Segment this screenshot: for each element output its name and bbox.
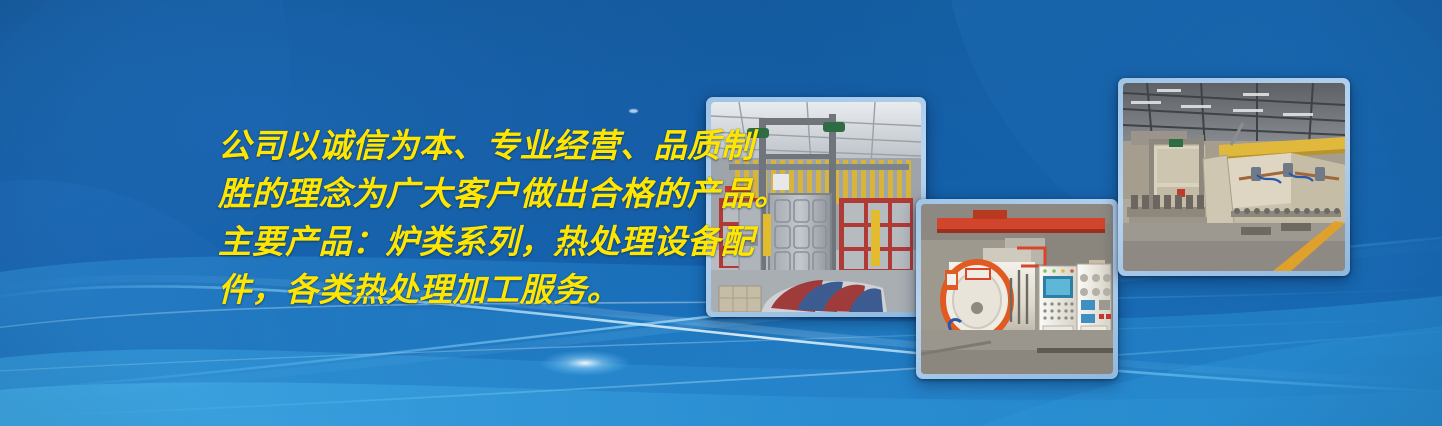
photo-frame-continuous-furnace-line[interactable] — [1118, 78, 1350, 276]
photo-frame-vacuum-furnace[interactable] — [916, 199, 1118, 379]
headline-block: 公司以诚信为本、专业经营、品质制 胜的理念为广大客户做出合格的产品。 主要产品：… — [218, 122, 738, 314]
headline-line-2: 胜的理念为广大客户做出合格的产品。 — [218, 170, 738, 218]
headline-line-3: 主要产品：炉类系列，热处理设备配 — [218, 218, 738, 266]
light-speck-artifact — [629, 109, 638, 113]
headline-line-4: 件，各类热处理加工服务。 — [218, 266, 738, 314]
company-promo-banner: 公司以诚信为本、专业经营、品质制 胜的理念为广大客户做出合格的产品。 主要产品：… — [0, 0, 1442, 426]
headline-line-1: 公司以诚信为本、专业经营、品质制 — [218, 122, 738, 170]
photo-image-vacuum-furnace — [921, 204, 1113, 374]
photo-image-continuous-furnace-line — [1123, 83, 1345, 271]
